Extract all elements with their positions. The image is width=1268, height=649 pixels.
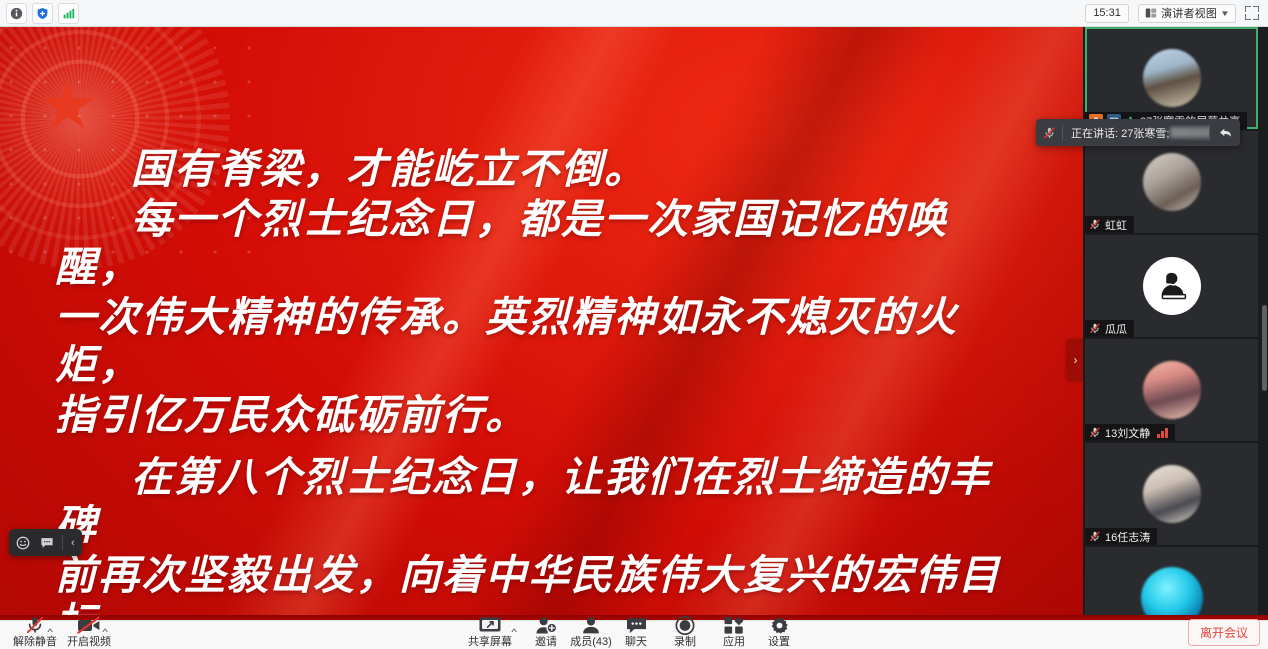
view-mode-label: 演讲者视图 [1161,5,1217,21]
chevron-up-icon-video[interactable]: ^ [102,627,108,637]
participant-name: 虹虹 [1105,217,1127,233]
participants-icon [580,618,602,635]
avatar [1143,465,1201,523]
reply-arrow-icon[interactable] [1210,126,1240,140]
toolbar-button-share[interactable]: 共享屏幕 [461,618,519,648]
participant-name: 16任志涛 [1105,529,1150,545]
slide-body-text: 国有脊梁，才能屹立不倒。 每一个烈士纪念日，都是一次家国记忆的唤醒， 一次伟大精… [0,27,1083,615]
microphone-muted-icon [1089,218,1101,231]
network-signal-icon [1157,427,1168,438]
annotation-toolbar[interactable]: ‹ [9,529,82,556]
active-speaker-label: 正在讲话: 27张寒雪; [1063,125,1209,141]
network-signal-icon[interactable] [58,3,79,24]
emoji-reaction-icon[interactable] [12,532,34,553]
participant-name-tag: 16任志涛 [1085,528,1157,545]
toolbar-label: 设置 [768,636,790,648]
slide-line-6: 前再次坚毅出发，向着中华民族伟大复兴的宏伟目标 [55,551,1005,615]
avatar [1143,153,1201,211]
toolbar-button-start-video[interactable]: 开启视频 [60,618,118,648]
avatar [1141,567,1203,615]
slide-line-4: 指引亿万民众砥砺前行。 [55,391,1005,439]
slide-line-1: 国有脊梁，才能屹立不倒。 [55,145,1005,193]
toolbar-label: 邀请 [535,636,557,648]
meeting-clock: 15:31 [1085,4,1129,23]
participant-tile[interactable]: 虹虹 [1085,131,1258,233]
chevron-down-icon: ▼ [1220,9,1230,18]
avatar [1143,49,1201,107]
record-circle-icon [675,618,695,635]
filmstrip-scrollbar[interactable] [1262,305,1267,391]
invite-user-icon [535,618,558,635]
slide-line-5: 在第八个烈士纪念日，让我们在烈士缔造的丰碑 [55,453,1005,549]
toolbar-label: 录制 [674,636,696,648]
active-speaker-toast: 正在讲话: 27张寒雪; [1036,119,1240,146]
participant-filmstrip[interactable]: 27张寒雪的屏幕共享 虹虹 [1083,27,1268,615]
participant-tile[interactable]: 27张寒雪的屏幕共享 [1085,27,1258,129]
blurred-names [1170,127,1209,138]
shared-screen-stage[interactable]: 国有脊梁，才能屹立不倒。 每一个烈士纪念日，都是一次家国记忆的唤醒， 一次伟大精… [0,27,1083,615]
participant-tile[interactable]: 瓜瓜 [1085,235,1258,337]
participant-name-tag: 虹虹 [1085,216,1134,233]
gear-icon [769,618,790,635]
toolbar-label: 成员(43) [570,636,612,648]
toolbar-button-unmute[interactable]: 解除静音 [6,618,64,648]
top-bar: 15:31 演讲者视图 ▼ [0,0,1268,27]
meeting-toolbar: 解除静音 ^ 开启视频 ^ 共享屏幕 ^ 邀请 成员(4 [0,620,1268,649]
participant-tile[interactable]: 16任志涛 [1085,443,1258,545]
fullscreen-icon[interactable] [1245,6,1259,20]
microphone-muted-icon [1089,426,1101,439]
expand-panel-handle[interactable]: › [1067,339,1083,381]
tile-video-area [1085,547,1258,615]
top-bar-left-icons [0,3,79,24]
toolbar-label: 聊天 [625,636,647,648]
chat-bubble-icon [625,618,648,635]
annotation-divider [62,535,63,550]
chat-bubble-icon[interactable] [36,532,58,553]
view-mode-selector[interactable]: 演讲者视图 ▼ [1138,4,1236,23]
participant-name-tag: 瓜瓜 [1085,320,1134,337]
collapse-annotation-icon[interactable]: ‹ [67,537,79,549]
microphone-muted-icon[interactable] [1036,126,1062,140]
microphone-muted-icon [1089,322,1101,335]
participant-tile[interactable]: ⌄ [1085,547,1258,615]
toolbar-label: 解除静音 [13,636,57,648]
info-icon[interactable] [6,3,27,24]
avatar [1143,257,1201,315]
share-screen-icon [478,618,502,635]
participant-tile[interactable]: 13刘文静 [1085,339,1258,441]
chevron-up-icon-unmute[interactable]: ^ [47,627,53,637]
slide-line-3: 一次伟大精神的传承。英烈精神如永不熄灭的火炬， [55,293,1005,389]
slide-line-2: 每一个烈士纪念日，都是一次家国记忆的唤醒， [55,195,1005,291]
participant-name-tag: 13刘文静 [1085,424,1175,441]
meeting-window: 15:31 演讲者视图 ▼ 国有脊梁，才能屹立不倒。 每一个烈士纪念日，都是一次… [0,0,1268,649]
camera-off-icon [76,618,102,635]
top-bar-right-controls: 15:31 演讲者视图 ▼ [1085,4,1268,23]
toolbar-label: 共享屏幕 [468,636,512,648]
toolbar-button-settings[interactable]: 设置 [750,618,808,648]
toolbar-label: 开启视频 [67,636,111,648]
microphone-muted-icon [1089,530,1101,543]
toolbar-label: 应用 [723,636,745,648]
shield-icon[interactable] [32,3,53,24]
apps-grid-icon [723,618,745,635]
cartoon-avatar-icon [1143,257,1201,315]
speaker-view-icon [1145,7,1157,19]
avatar [1143,361,1201,419]
participant-name: 13刘文静 [1105,425,1150,441]
microphone-muted-icon [24,618,46,635]
leave-meeting-button[interactable]: 离开会议 [1188,619,1260,646]
participant-name: 瓜瓜 [1105,321,1127,337]
